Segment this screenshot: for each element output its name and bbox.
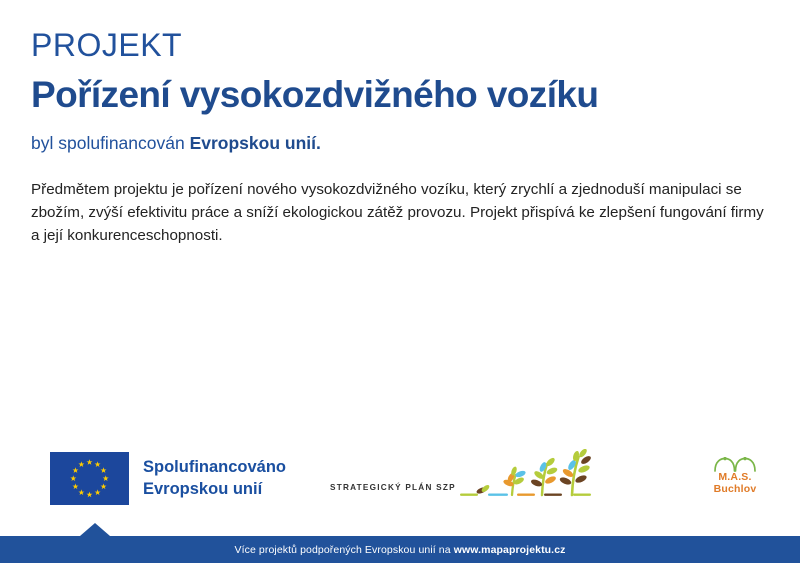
mas-logo-line2: Buchlov [706,484,764,496]
subline-strong: Evropskou unií. [190,133,321,153]
eu-logo: Spolufinancováno Evropskou unií [50,452,286,505]
footer-arrow-icon [80,523,110,536]
footer-bar: Více projektů podpořených Evropskou unií… [0,536,800,563]
footer-text: Více projektů podpořených Evropskou unií… [235,544,566,556]
eu-flag-icon [50,452,129,505]
mas-buchlov-logo: M.A.S. Buchlov [706,457,764,496]
logo-strip: Spolufinancováno Evropskou unií STRATEGI… [0,445,800,513]
poster-eyebrow: PROJEKT [31,29,770,63]
mas-logo-line1: M.A.S. [706,472,764,484]
eu-logo-text: Spolufinancováno Evropskou unií [143,457,286,499]
footer-text-prefix: Více projektů podpořených Evropskou unií… [235,544,454,556]
poster-content: PROJEKT Pořízení vysokozdvižného vozíku … [31,29,770,248]
mas-logo-text: M.A.S. Buchlov [706,472,764,496]
subline-prefix: byl spolufinancován [31,133,190,153]
szp-logo-label: STRATEGICKÝ PLÁN SZP [330,483,456,505]
szp-logo: STRATEGICKÝ PLÁN SZP [330,445,612,505]
project-poster: PROJEKT Pořízení vysokozdvižného vozíku … [0,0,800,563]
eu-logo-line2: Evropskou unií [143,479,286,500]
poster-headline: Pořízení vysokozdvižného vozíku [31,75,770,116]
poster-subline: byl spolufinancován Evropskou unií. [31,133,770,154]
eu-logo-line1: Spolufinancováno [143,457,286,478]
mas-arches-icon [706,457,764,472]
footer-link[interactable]: www.mapaprojektu.cz [454,544,566,556]
poster-body-text: Předmětem projektu je pořízení nového vy… [31,178,770,247]
szp-plants-icon [460,449,612,505]
